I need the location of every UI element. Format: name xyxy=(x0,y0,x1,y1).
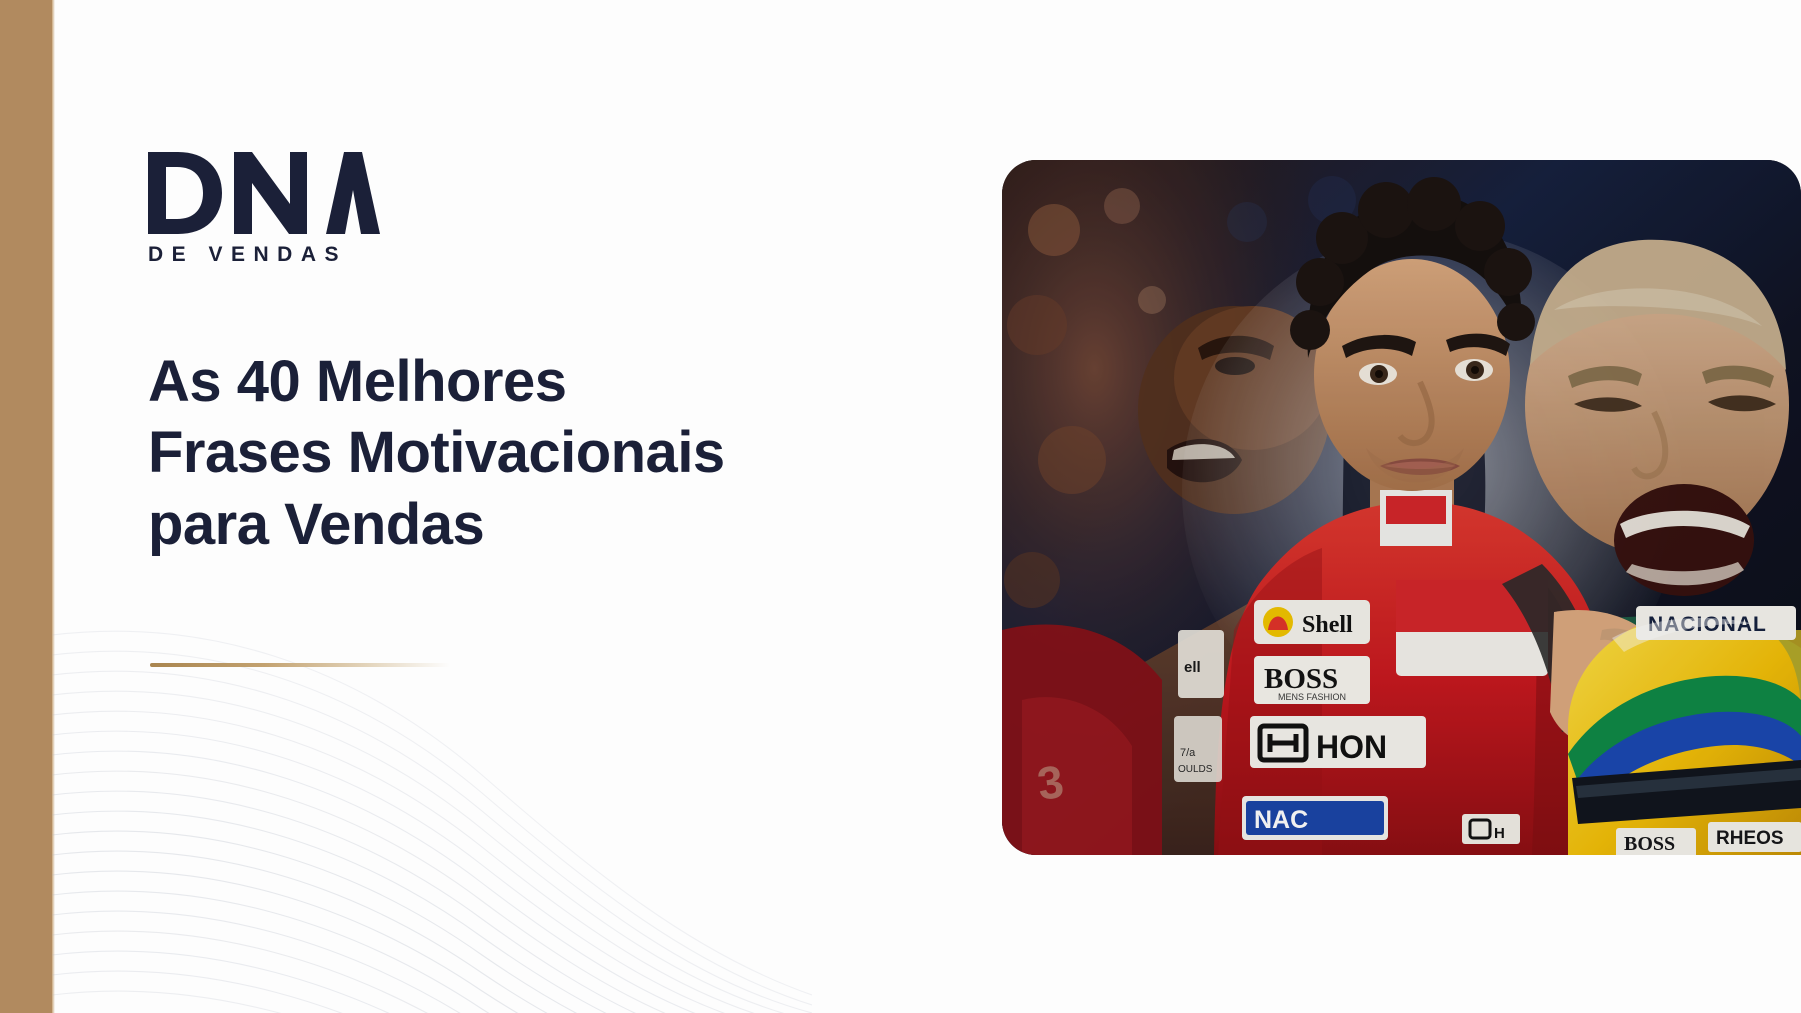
dna-wordmark-icon xyxy=(148,152,380,234)
hero-image-card: 3 xyxy=(1002,160,1801,855)
page-title: As 40 Melhores Frases Motivacionais para… xyxy=(148,346,888,560)
page-title-line-1: As 40 Melhores xyxy=(148,346,888,417)
page-title-line-2: Frases Motivacionais xyxy=(148,417,888,488)
brand-logo: DE VENDAS xyxy=(148,152,408,267)
page-title-line-3: para Vendas xyxy=(148,489,888,560)
text-column: DE VENDAS As 40 Melhores Frases Motivaci… xyxy=(148,0,868,1013)
brand-tagline: DE VENDAS xyxy=(148,243,408,267)
slide-canvas: DE VENDAS As 40 Melhores Frases Motivaci… xyxy=(0,0,1801,1013)
gold-divider xyxy=(150,663,450,667)
left-accent-bar-edge xyxy=(52,0,55,1013)
left-accent-bar xyxy=(0,0,52,1013)
